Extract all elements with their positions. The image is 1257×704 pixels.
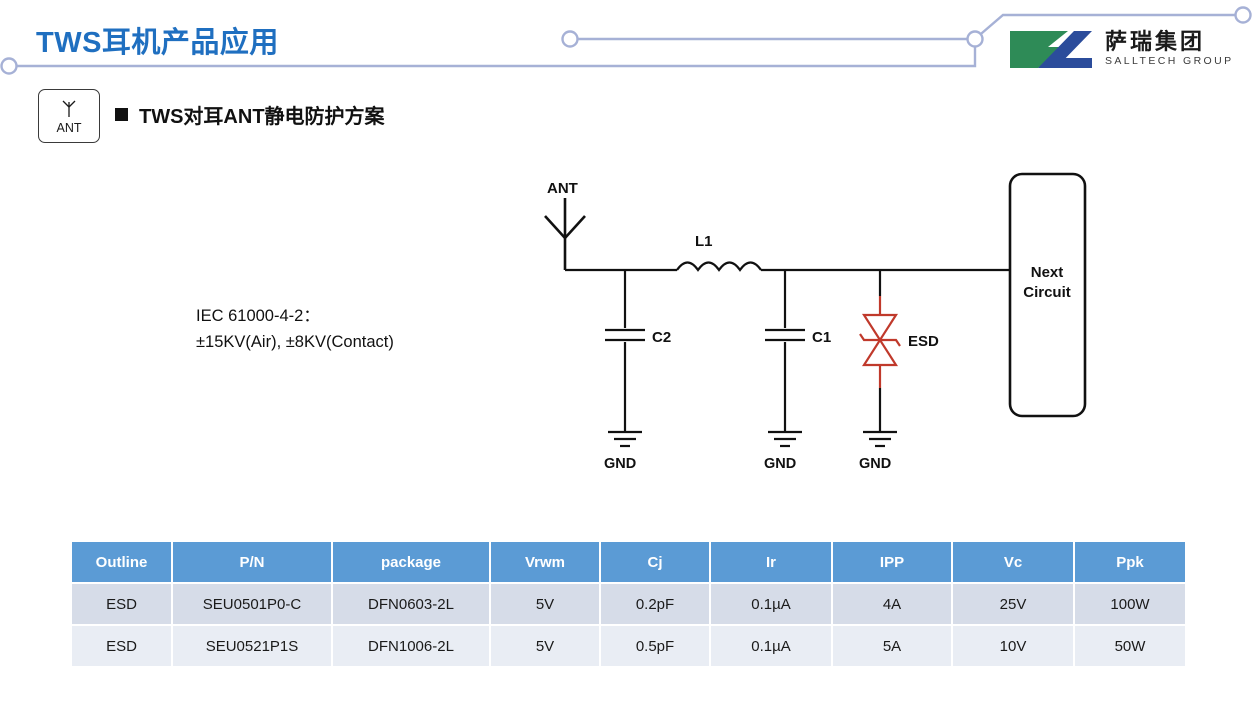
deco-node-corner [968,32,983,47]
cell-vrwm: 5V [490,625,600,667]
cell-pn: SEU0521P1S [172,625,332,667]
col-header-vrwm: Vrwm [490,542,600,583]
section-heading: TWS对耳ANT静电防护方案 [115,100,385,129]
table-row: ESD SEU0521P1S DFN1006-2L 5V 0.5pF 0.1µA… [72,625,1185,667]
deco-node-left [2,59,17,74]
square-bullet-icon [115,108,128,121]
cell-vc: 10V [952,625,1074,667]
ant-chip-badge: ANT [38,89,100,143]
table-header-row: Outline P/N package Vrwm Cj Ir IPP Vc Pp… [72,542,1185,583]
cell-package: DFN1006-2L [332,625,490,667]
esd-triangle-lower [864,340,896,365]
capacitor-c1-branch [765,270,805,446]
capacitor-c1-label: C1 [812,329,831,346]
esd-zener-bars [860,334,900,346]
antenna-label: ANT [547,180,578,197]
cell-outline: ESD [72,625,172,667]
cell-vc: 25V [952,583,1074,625]
gnd-label-c2: GND [604,456,636,472]
col-header-ppk: Ppk [1074,542,1185,583]
cell-pn: SEU0501P0-C [172,583,332,625]
cell-ppk: 50W [1074,625,1185,667]
cell-outline: ESD [72,583,172,625]
col-header-vc: Vc [952,542,1074,583]
cell-ir: 0.1µA [710,625,832,667]
col-header-outline: Outline [72,542,172,583]
col-header-ipp: IPP [832,542,952,583]
capacitor-c2-branch [605,270,645,446]
cell-cj: 0.2pF [600,583,710,625]
table-row: ESD SEU0501P0-C DFN0603-2L 5V 0.2pF 0.1µ… [72,583,1185,625]
esd-label: ESD [908,333,939,350]
cell-ir: 0.1µA [710,583,832,625]
esd-protection-schematic: ANT L1 C2 GND C1 GND [500,160,1120,490]
esd-diode-branch [860,270,900,446]
col-header-pn: P/N [172,542,332,583]
brand-name-cn: 萨瑞集团 [1105,31,1234,53]
gnd-label-c1: GND [764,456,796,472]
gnd-label-esd: GND [859,456,891,472]
next-circuit-line-2: Circuit [1023,284,1071,301]
antenna-symbol [545,198,585,270]
esd-triangle-upper [864,315,896,340]
col-header-ir: Ir [710,542,832,583]
cell-package: DFN0603-2L [332,583,490,625]
col-header-package: package [332,542,490,583]
deco-node-mid [563,32,578,47]
cell-ppk: 100W [1074,583,1185,625]
iec-spec-note: IEC 61000-4-2： ±15KV(Air), ±8KV(Contact) [196,303,394,355]
col-header-cj: Cj [600,542,710,583]
inductor-label: L1 [695,233,713,250]
cell-vrwm: 5V [490,583,600,625]
section-title: TWS对耳ANT静电防护方案 [139,100,385,129]
next-circuit-line-1: Next [1031,264,1064,281]
esd-spec-table: Outline P/N package Vrwm Cj Ir IPP Vc Pp… [72,542,1185,668]
capacitor-c2-label: C2 [652,329,671,346]
cell-ipp: 5A [832,625,952,667]
brand-text: 萨瑞集团 SALLTECH GROUP [1105,31,1234,67]
cell-cj: 0.5pF [600,625,710,667]
inductor-symbol [677,263,761,271]
iec-spec-line-2: ±15KV(Air), ±8KV(Contact) [196,329,394,355]
deco-node-right [1236,8,1251,23]
ant-chip-label: ANT [57,121,82,135]
iec-spec-line-1: IEC 61000-4-2： [196,303,394,329]
page-title: TWS耳机产品应用 [36,19,279,61]
salltech-logo-mark [1008,27,1094,71]
antenna-icon [58,97,80,119]
cell-ipp: 4A [832,583,952,625]
brand-name-en: SALLTECH GROUP [1105,56,1234,67]
brand-logo: 萨瑞集团 SALLTECH GROUP [1008,26,1244,72]
